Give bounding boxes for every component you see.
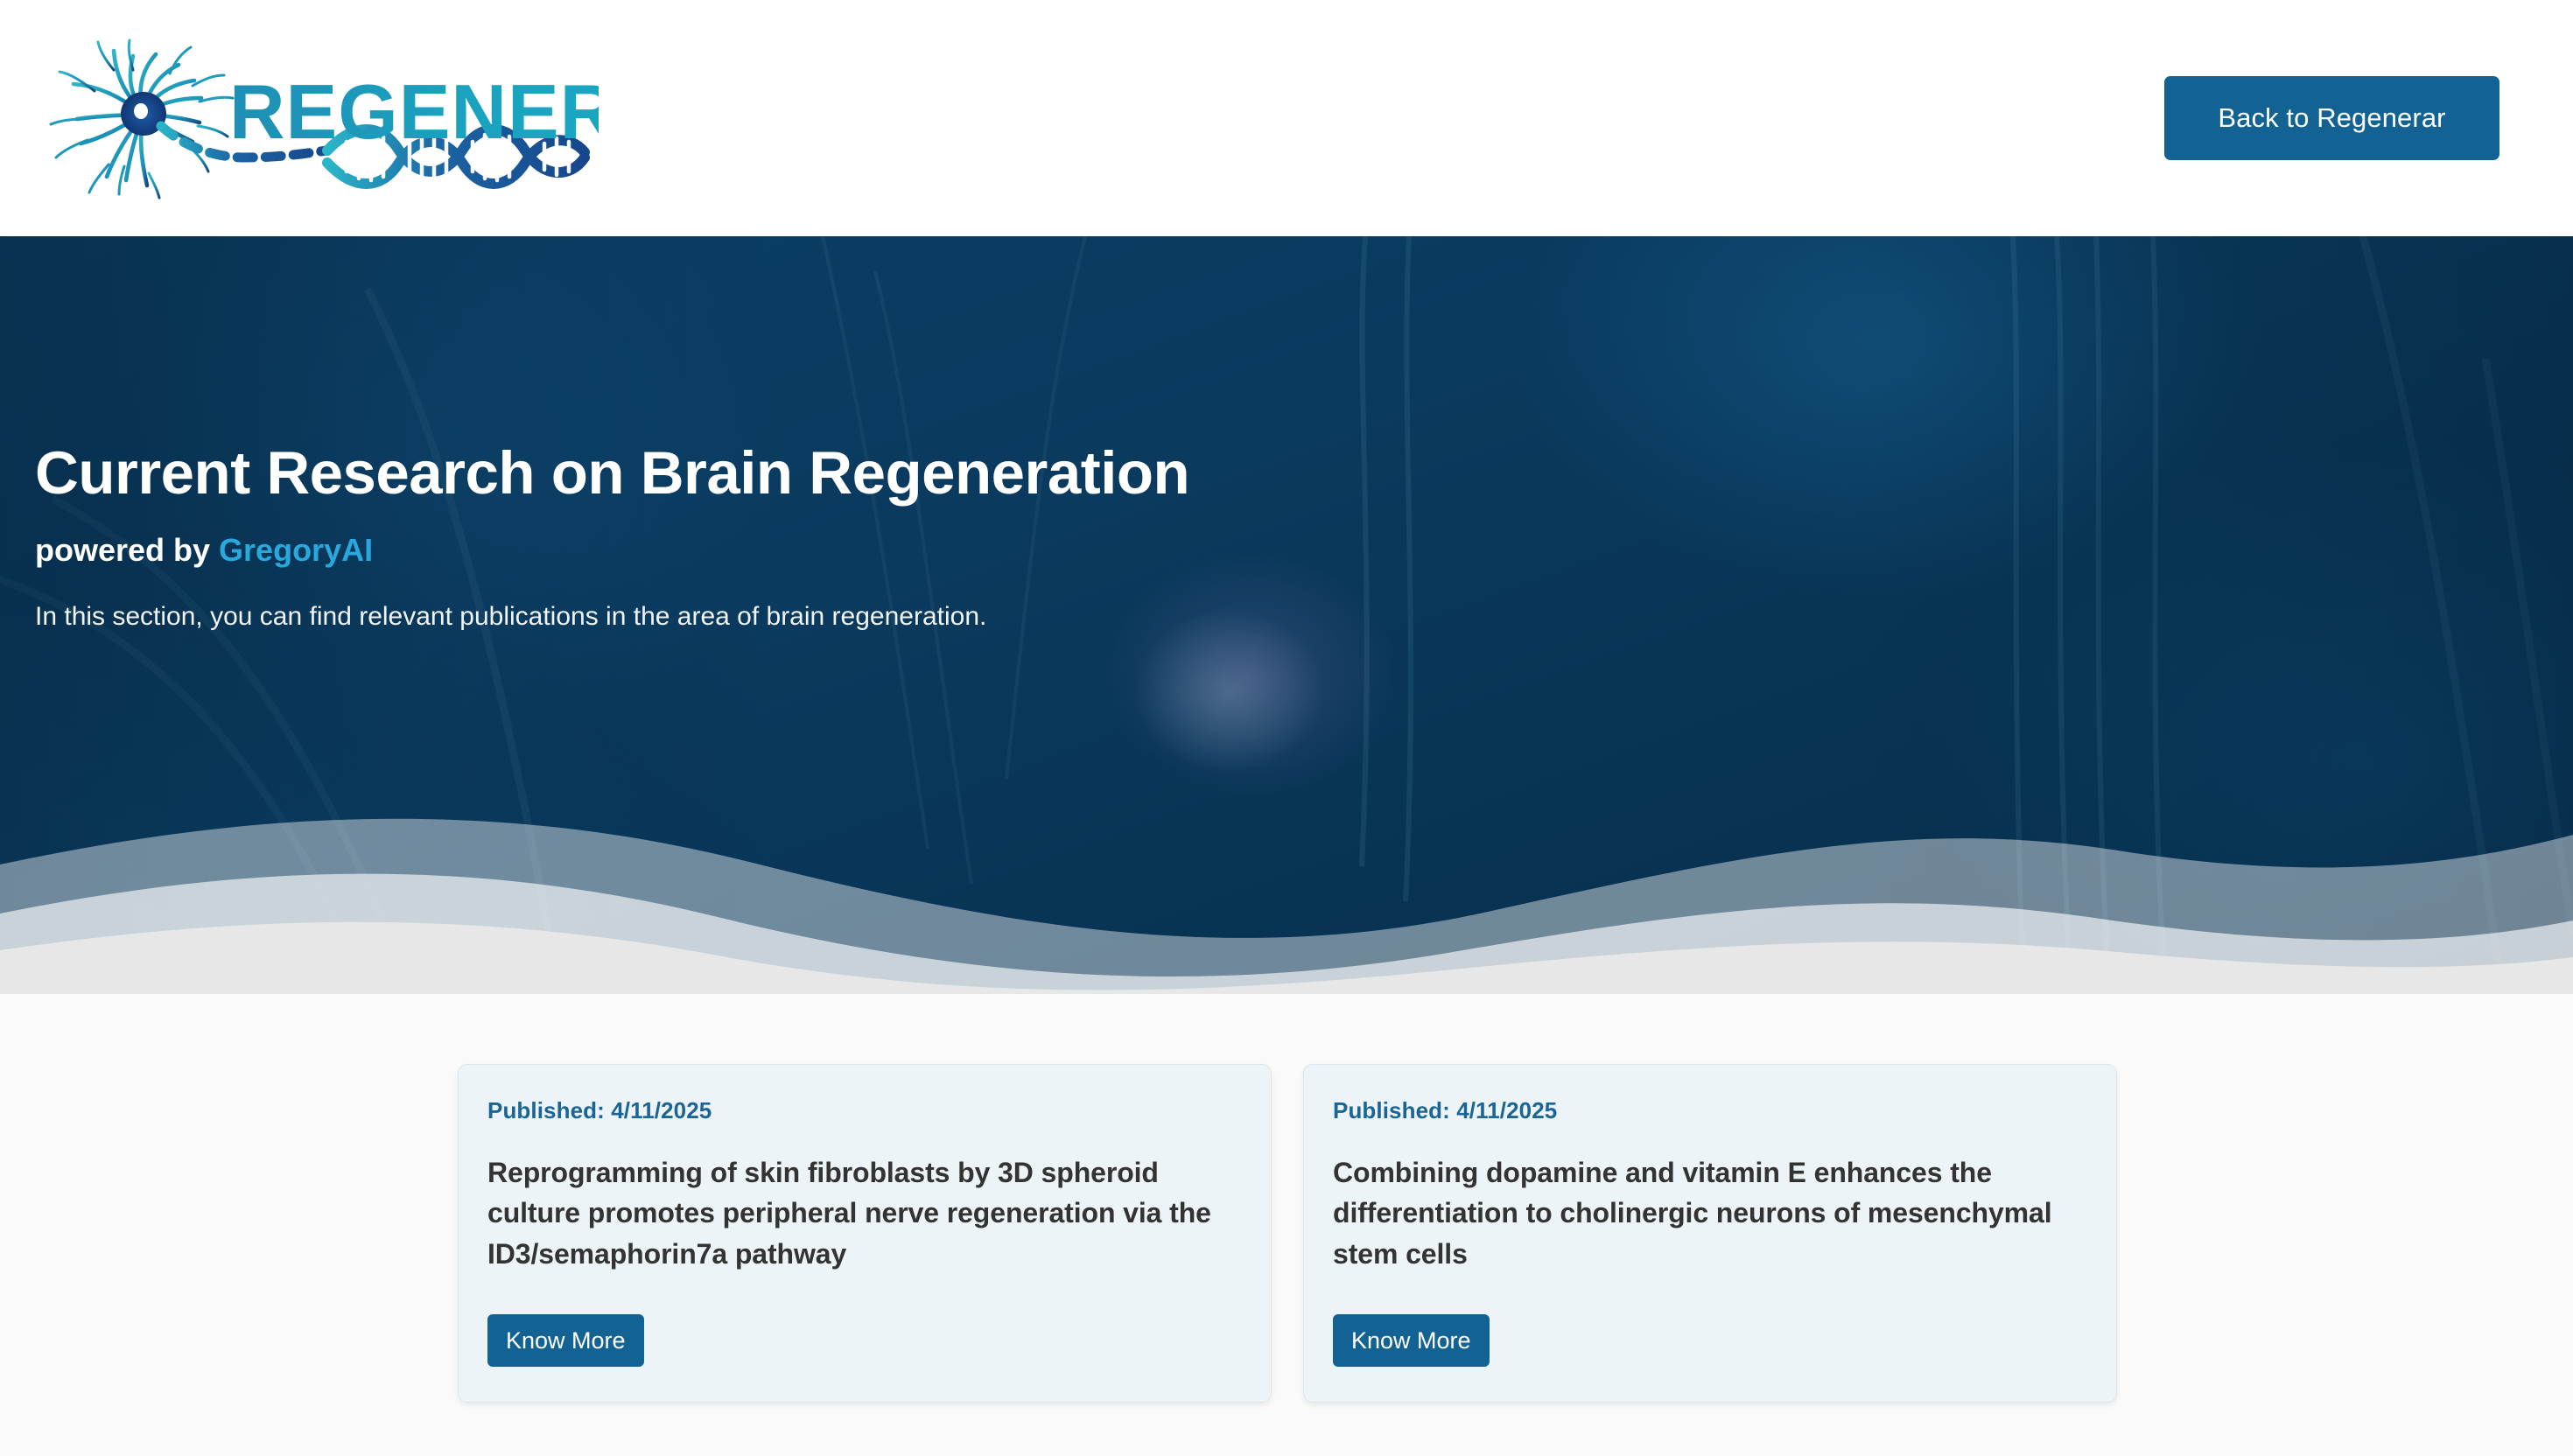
publications-grid: Published: 4/11/2025 Reprogramming of sk…: [458, 1064, 2117, 1403]
publications-section: Published: 4/11/2025 Reprogramming of sk…: [0, 994, 2573, 1456]
site-header: REGENERAR Back to Regenerar: [0, 0, 2573, 236]
publication-title: Reprogramming of skin fibroblasts by 3D …: [487, 1152, 1242, 1274]
know-more-button[interactable]: Know More: [487, 1314, 644, 1367]
publication-date: Published: 4/11/2025: [487, 1097, 1242, 1124]
hero-description: In this section, you can find relevant p…: [35, 602, 1785, 632]
know-more-button[interactable]: Know More: [1333, 1314, 1490, 1367]
publication-card[interactable]: Published: 4/11/2025 Combining dopamine …: [1303, 1064, 2117, 1403]
hero-section: Current Research on Brain Regeneration p…: [0, 236, 2573, 994]
back-to-regenerar-button[interactable]: Back to Regenerar: [2164, 76, 2499, 160]
wave-divider: [0, 731, 2573, 994]
publication-actions: Know More: [487, 1274, 1242, 1367]
publication-title: Combining dopamine and vitamin E enhance…: [1333, 1152, 2087, 1274]
publication-actions: Know More: [1333, 1274, 2087, 1367]
publication-card[interactable]: Published: 4/11/2025 Reprogramming of sk…: [458, 1064, 1272, 1403]
brand-logo[interactable]: REGENERAR: [39, 39, 599, 197]
powered-by-line: powered by GregoryAI: [35, 532, 1785, 569]
neuron-dna-logo-icon: REGENERAR: [39, 35, 599, 201]
powered-by-prefix: powered by: [35, 532, 219, 568]
page-title: Current Research on Brain Regeneration: [35, 441, 1785, 507]
gregoryai-brand: GregoryAI: [219, 532, 373, 568]
publication-date: Published: 4/11/2025: [1333, 1097, 2087, 1124]
brand-wordmark: REGENERAR: [229, 68, 599, 155]
